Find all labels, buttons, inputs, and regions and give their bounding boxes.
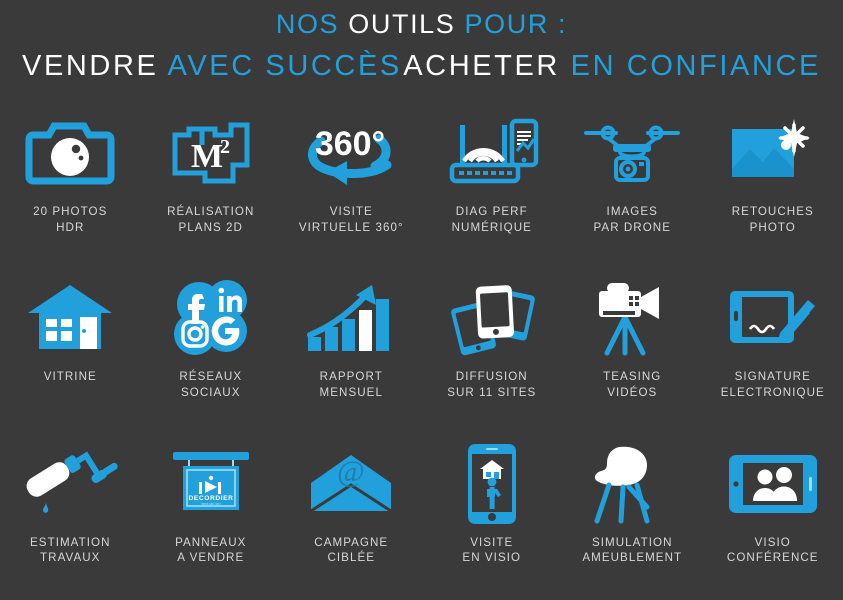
tool-label-line1: DIAG PERF: [452, 204, 532, 220]
bar-5: [376, 299, 389, 351]
tool-label-line2: PHOTO: [732, 220, 814, 236]
tool-label-line1: RÉALISATION: [167, 204, 254, 220]
video-camera-tripod-icon: [584, 275, 680, 361]
tool-card-photos-hdr[interactable]: 20 PHOTOS HDR: [0, 104, 141, 269]
tablets-icon: [444, 275, 540, 361]
title-word-nos: NOS: [276, 9, 339, 39]
tool-label: TEASING VIDÉOS: [603, 369, 661, 400]
tool-label: SIMULATION AMEUBLEMENT: [582, 535, 682, 566]
360-text: 360°: [315, 125, 385, 163]
floorplan-exponent: 2: [220, 136, 230, 158]
floorplan-m-letter: M: [191, 138, 223, 175]
at-symbol: @: [337, 455, 365, 488]
tool-label-line2: HDR: [33, 220, 107, 236]
tool-card-video-conference[interactable]: VISIO CONFÉRENCE: [703, 435, 843, 600]
title-word-outils: OUTILS: [348, 9, 455, 39]
social-networks-icon: [163, 275, 259, 361]
tool-label-line1: TEASING: [603, 369, 661, 385]
tool-card-video-visit[interactable]: VISITE EN VISIO: [422, 435, 563, 600]
tool-card-virtual-tour-360[interactable]: 360° VISITE VIRTUELLE 360°: [281, 104, 422, 269]
tool-label-line1: VISIO: [727, 535, 819, 551]
tool-label-line1: RAPPORT: [320, 369, 383, 385]
tool-label: VISITE EN VISIO: [462, 535, 521, 566]
tool-label: SIGNATURE ELECTRONIQUE: [721, 369, 825, 400]
header-subtitles: VENDRE AVEC SUCCÈS ACHETER EN CONFIANCE: [0, 41, 843, 84]
sign-brand-subtext: immobilier: [201, 502, 222, 506]
tool-label-line2: VIRTUELLE 360°: [299, 220, 404, 236]
title-word-pour: POUR :: [465, 9, 568, 39]
tools-grid: 20 PHOTOS HDR M 2 RÉALISATION PLANS 2D 3…: [0, 104, 843, 600]
tool-label-line1: CAMPAGNE: [314, 535, 388, 551]
heading-sell: VENDRE AVEC SUCCÈS: [22, 48, 402, 84]
tool-card-photo-retouch[interactable]: RETOUCHES PHOTO: [703, 104, 843, 269]
video-conference-tablet-icon: [725, 441, 821, 527]
tool-label: RETOUCHES PHOTO: [732, 204, 814, 235]
tool-label-line2: SUR 11 SITES: [447, 385, 536, 401]
sign-bracket: [173, 452, 249, 460]
sign-brand-text: DECORDIER: [188, 495, 233, 502]
tool-card-electronic-signature[interactable]: SIGNATURE ELECTRONIQUE: [703, 269, 843, 434]
bar-2: [325, 327, 338, 351]
tool-label-line2: SOCIAUX: [179, 385, 242, 401]
chair-legs: [597, 485, 647, 521]
email-envelope-icon: @: [303, 441, 399, 527]
tool-card-social-networks[interactable]: RÉSEAUX SOCIAUX: [141, 269, 282, 434]
house-icon: [22, 275, 118, 361]
tool-card-targeted-campaign[interactable]: @ CAMPAGNE CIBLÉE: [281, 435, 422, 600]
tool-label-line2: AMEUBLEMENT: [582, 550, 682, 566]
tool-label-line1: ESTIMATION: [30, 535, 111, 551]
heading-sell-white: VENDRE: [22, 50, 158, 82]
tool-label-line2: CIBLÉE: [314, 550, 388, 566]
tool-label: ESTIMATION TRAVAUX: [30, 535, 111, 566]
page-title: NOS OUTILS POUR :: [0, 7, 843, 41]
360-rotation-icon: 360°: [303, 110, 399, 196]
heading-sell-blue: AVEC SUCCÈS: [168, 50, 402, 82]
tool-label-line1: RETOUCHES: [732, 204, 814, 220]
tool-label: IMAGES PAR DRONE: [593, 204, 671, 235]
signature-tablet-icon: [725, 275, 821, 361]
for-sale-sign-icon: DECORDIER immobilier: [163, 441, 259, 527]
heading-buy-blue: EN CONFIANCE: [571, 50, 821, 82]
tool-label: DIAG PERF NUMÉRIQUE: [452, 204, 532, 235]
tool-label-line2: A VENDRE: [175, 550, 246, 566]
tool-label-line2: ELECTRONIQUE: [721, 385, 825, 401]
bar-4-highlight: [359, 310, 372, 351]
tool-label-line1: VITRINE: [44, 369, 97, 385]
tool-label: DIFFUSION SUR 11 SITES: [447, 369, 536, 400]
tool-label: RAPPORT MENSUEL: [320, 369, 383, 400]
tool-card-plans-2d[interactable]: M 2 RÉALISATION PLANS 2D: [141, 104, 282, 269]
tool-label: RÉALISATION PLANS 2D: [167, 204, 254, 235]
tool-card-digital-performance[interactable]: DIAG PERF NUMÉRIQUE: [422, 104, 563, 269]
tool-card-drone-images[interactable]: IMAGES PAR DRONE: [562, 104, 703, 269]
tool-label: CAMPAGNE CIBLÉE: [314, 535, 388, 566]
tool-label-line1: 20 PHOTOS: [33, 204, 107, 220]
tool-label-line2: MENSUEL: [320, 385, 383, 401]
tool-label-line2: EN VISIO: [462, 550, 521, 566]
tool-card-renovation-estimate[interactable]: ESTIMATION TRAVAUX: [0, 435, 141, 600]
tool-card-for-sale-sign[interactable]: DECORDIER immobilier PANNEAUX A VENDRE: [141, 435, 282, 600]
tool-card-shop-window[interactable]: VITRINE: [0, 269, 141, 434]
tool-label-line1: SIGNATURE: [721, 369, 825, 385]
tool-label-line2: NUMÉRIQUE: [452, 220, 532, 236]
drone-icon: [584, 110, 680, 196]
photo-retouch-icon: [725, 110, 821, 196]
tool-label-line1: IMAGES: [593, 204, 671, 220]
bar-1: [308, 337, 321, 351]
paint-drip: [43, 502, 48, 513]
tablet-center: [475, 285, 514, 339]
tool-label: PANNEAUX A VENDRE: [175, 535, 246, 566]
tool-label-line2: VIDÉOS: [603, 385, 661, 401]
heading-buy: ACHETER EN CONFIANCE: [403, 48, 821, 84]
tool-label-line2: PLANS 2D: [167, 220, 254, 236]
wifi-router-icon: [444, 110, 540, 196]
tool-label: RÉSEAUX SOCIAUX: [179, 369, 242, 400]
tool-card-furniture-simulation[interactable]: SIMULATION AMEUBLEMENT: [562, 435, 703, 600]
bar-chart-growth-icon: [303, 275, 399, 361]
tool-card-11-sites-diffusion[interactable]: DIFFUSION SUR 11 SITES: [422, 269, 563, 434]
tool-label: 20 PHOTOS HDR: [33, 204, 107, 235]
tool-label-line1: VISITE: [462, 535, 521, 551]
camera-icon: [22, 110, 118, 196]
chair-icon: [584, 441, 680, 527]
floorplan-m2-icon: M 2: [163, 110, 259, 196]
tool-card-video-teasing[interactable]: TEASING VIDÉOS: [562, 269, 703, 434]
tool-label-line1: PANNEAUX: [175, 535, 246, 551]
paint-roller-icon: [22, 441, 118, 527]
tool-card-monthly-report[interactable]: RAPPORT MENSUEL: [281, 269, 422, 434]
tripod-legs: [607, 317, 643, 353]
tool-label-line2: TRAVAUX: [30, 550, 111, 566]
heading-buy-white: ACHETER: [403, 50, 560, 82]
tool-label-line1: RÉSEAUX: [179, 369, 242, 385]
tool-label: VISITE VIRTUELLE 360°: [299, 204, 404, 235]
tool-label: VISIO CONFÉRENCE: [727, 535, 819, 566]
tool-label: VITRINE: [44, 369, 97, 385]
tool-label-line2: PAR DRONE: [593, 220, 671, 236]
header: NOS OUTILS POUR : VENDRE AVEC SUCCÈS ACH…: [0, 0, 843, 84]
tool-label-line1: DIFFUSION: [447, 369, 536, 385]
phone-video-visit-icon: [444, 441, 540, 527]
tool-label-line2: CONFÉRENCE: [727, 550, 819, 566]
bar-3: [342, 319, 355, 351]
tool-label-line1: SIMULATION: [582, 535, 682, 551]
tool-label-line1: VISITE: [299, 204, 404, 220]
